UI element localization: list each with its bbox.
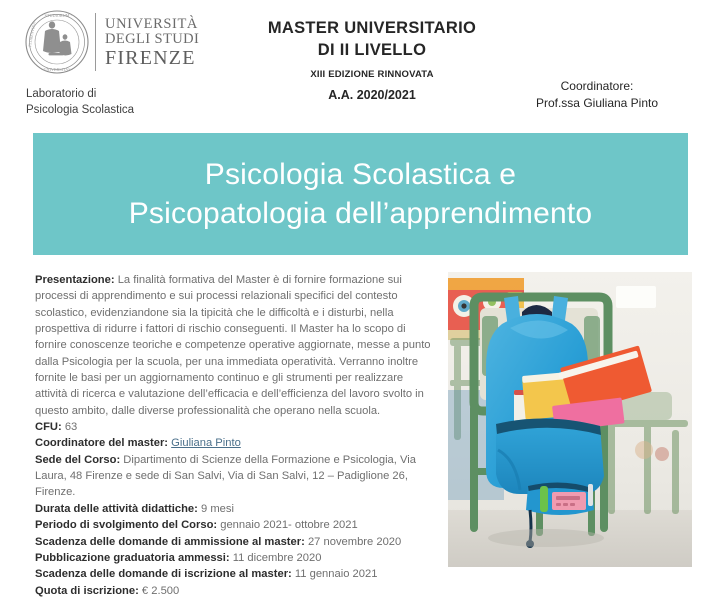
fact-line: Scadenza delle domande di iscrizione al …	[35, 566, 433, 582]
master-line-1: MASTER UNIVERSITARIO	[222, 18, 522, 39]
backpack-on-chair-photo	[448, 272, 692, 567]
fact-label: Periodo di svolgimento del Corso:	[35, 519, 217, 531]
laboratory-line-2: Psicologia Scolastica	[26, 103, 234, 119]
fact-line: CFU: 63	[35, 419, 433, 435]
fact-label: Durata delle attività didattiche:	[35, 503, 198, 515]
svg-text:· UNIVERSITAS ·: · UNIVERSITAS ·	[41, 67, 73, 72]
course-title-line-2: Psicopatologia dell’apprendimento	[129, 194, 593, 233]
wordmark-line-2: DEGLI STUDI	[105, 32, 199, 47]
academic-year-label: A.A. 2020/2021	[222, 88, 522, 102]
wordmark-line-1: UNIVERSITÀ	[105, 17, 199, 32]
fact-list: CFU: 63Coordinatore del master: Giuliana…	[35, 419, 433, 599]
laboratory-label: Laboratorio di Psicologia Scolastica	[26, 87, 234, 118]
fact-line: Durata delle attività didattiche: 9 mesi	[35, 501, 433, 517]
presentation-paragraph: Presentazione: La finalità formativa del…	[35, 272, 433, 419]
presentation-label: Presentazione:	[35, 274, 115, 286]
fact-line: Pubblicazione graduatoria ammessi: 11 di…	[35, 550, 433, 566]
brand-divider	[95, 13, 96, 71]
course-title-text: Psicologia Scolastica e Psicopatologia d…	[115, 155, 607, 233]
master-heading-block: MASTER UNIVERSITARIO DI II LIVELLO XIII …	[222, 18, 522, 102]
brand-row: · STUDIORUM · · UNIVERSITAS · FLORENTINA…	[24, 6, 234, 78]
fact-value: 63	[62, 421, 78, 433]
fact-line: Sede del Corso: Dipartimento di Scienze …	[35, 452, 433, 501]
university-wordmark: UNIVERSITÀ DEGLI STUDI FIRENZE	[105, 17, 199, 68]
laboratory-line-1: Laboratorio di	[26, 87, 234, 103]
coordinator-link[interactable]: Giuliana Pinto	[171, 437, 241, 449]
fact-label: Sede del Corso:	[35, 454, 120, 466]
course-title-line-1: Psicologia Scolastica e	[129, 155, 593, 194]
fact-value: Giuliana Pinto	[168, 437, 241, 449]
course-description-column: Presentazione: La finalità formativa del…	[35, 272, 433, 599]
fact-value: 11 gennaio 2021	[292, 568, 378, 580]
fact-label: Pubblicazione graduatoria ammessi:	[35, 552, 230, 564]
edition-label: XIII EDIZIONE RINNOVATA	[222, 69, 522, 80]
presentation-text: La finalità formativa del Master è di fo…	[35, 274, 431, 417]
page-header: · STUDIORUM · · UNIVERSITAS · FLORENTINA…	[0, 0, 720, 131]
course-title-banner: Psicologia Scolastica e Psicopatologia d…	[33, 133, 688, 255]
fact-value: € 2.500	[139, 585, 179, 597]
coordinator-name: Prof.ssa Giuliana Pinto	[502, 95, 692, 112]
coordinator-block: Coordinatore: Prof.ssa Giuliana Pinto	[502, 78, 692, 113]
fact-line: Quota di iscrizione: € 2.500	[35, 583, 433, 599]
fact-value: 27 novembre 2020	[305, 536, 401, 548]
fact-label: Scadenza delle domande di ammissione al …	[35, 536, 305, 548]
fact-label: CFU:	[35, 421, 62, 433]
fact-value: 11 dicembre 2020	[230, 552, 322, 564]
svg-text:· STUDIORUM ·: · STUDIORUM ·	[42, 13, 72, 18]
fact-line: Periodo di svolgimento del Corso: gennai…	[35, 517, 433, 533]
coordinator-label: Coordinatore:	[502, 78, 692, 95]
fact-line: Coordinatore del master: Giuliana Pinto	[35, 435, 433, 451]
master-line-2: DI II LIVELLO	[222, 40, 522, 61]
wordmark-line-3: FIRENZE	[105, 48, 199, 68]
university-of-florence-seal-icon: · STUDIORUM · · UNIVERSITAS · FLORENTINA	[24, 9, 90, 75]
fact-label: Quota di iscrizione:	[35, 585, 139, 597]
university-brand-block: · STUDIORUM · · UNIVERSITAS · FLORENTINA…	[24, 6, 234, 118]
fact-label: Coordinatore del master:	[35, 437, 168, 449]
fact-line: Scadenza delle domande di ammissione al …	[35, 534, 433, 550]
fact-label: Scadenza delle domande di iscrizione al …	[35, 568, 292, 580]
fact-value: 9 mesi	[198, 503, 234, 515]
fact-value: gennaio 2021- ottobre 2021	[217, 519, 358, 531]
